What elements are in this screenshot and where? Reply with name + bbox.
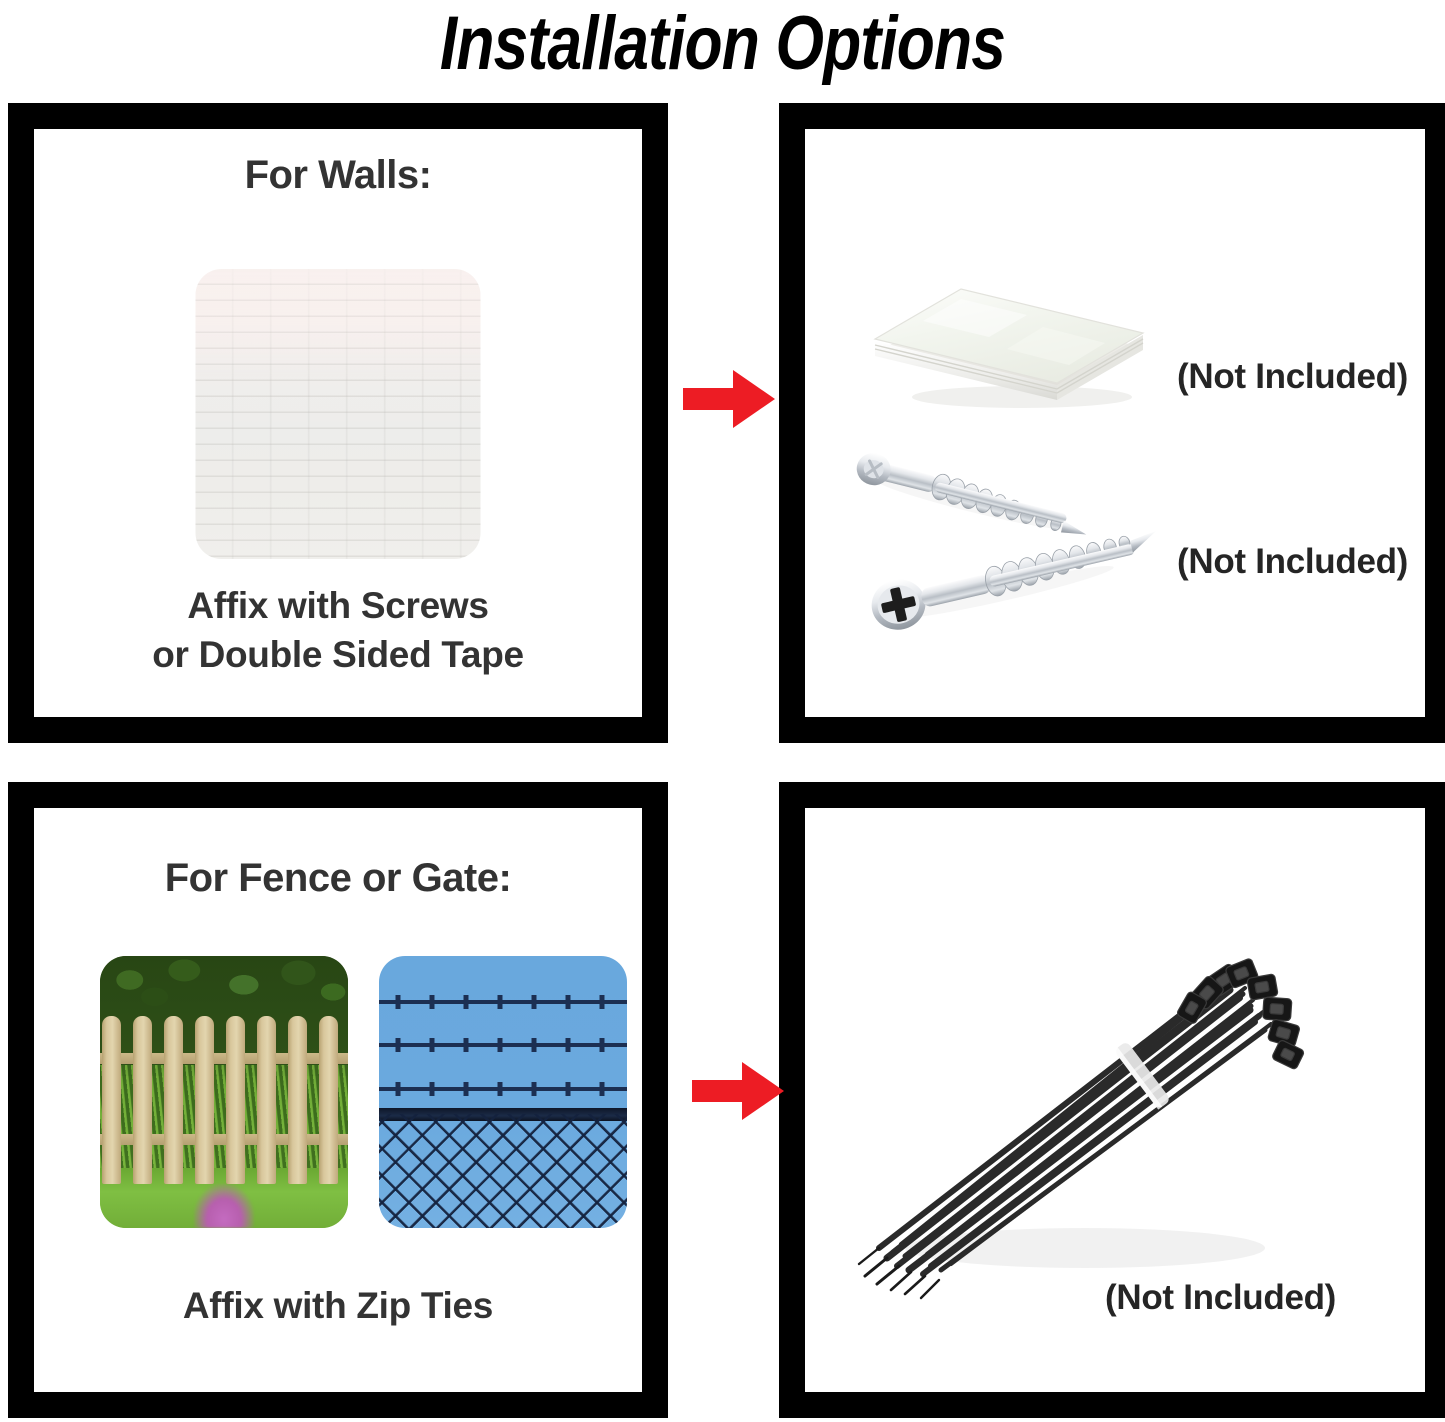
tape-stack-icon xyxy=(857,225,1157,415)
white-brick-wall-image xyxy=(196,269,481,559)
chain-link-fence-image xyxy=(379,956,627,1228)
screws-icon xyxy=(825,449,1225,649)
screws-image xyxy=(825,449,1225,649)
fence-heading: For Fence or Gate: xyxy=(34,856,642,901)
red-right-arrow-icon-bottom xyxy=(690,1060,786,1122)
panel-for-fence-or-gate-content: For Fence or Gate: xyxy=(34,808,642,1392)
red-right-arrow-icon-top xyxy=(681,368,777,430)
walls-caption-line1: Affix with Screws xyxy=(34,581,642,630)
panel-for-walls: For Walls: Affix with Screws or Double S… xyxy=(8,103,668,743)
walls-caption: Affix with Screws or Double Sided Tape xyxy=(34,581,642,679)
walls-heading: For Walls: xyxy=(34,153,642,198)
page-title: Installation Options xyxy=(130,0,1315,92)
walls-caption-line2: or Double Sided Tape xyxy=(34,630,642,679)
zip-tie-bundle-image xyxy=(835,918,1325,1308)
panel-wall-hardware-content: (Not Included) xyxy=(805,129,1425,717)
panel-wall-hardware: (Not Included) xyxy=(779,103,1445,743)
tape-not-included-label: (Not Included) xyxy=(1177,357,1408,397)
zipties-not-included-label: (Not Included) xyxy=(1105,1278,1336,1318)
panel-for-walls-content: For Walls: Affix with Screws or Double S… xyxy=(34,129,642,717)
panel-zip-ties-content: (Not Included) xyxy=(805,808,1425,1392)
panel-zip-ties: (Not Included) xyxy=(779,782,1445,1418)
wooden-fence-image xyxy=(100,956,348,1228)
fence-caption: Affix with Zip Ties xyxy=(34,1281,642,1330)
screws-not-included-label: (Not Included) xyxy=(1177,542,1408,582)
zip-ties-icon xyxy=(835,918,1325,1308)
panel-for-fence-or-gate: For Fence or Gate: xyxy=(8,782,668,1418)
double-sided-tape-image xyxy=(857,225,1157,415)
